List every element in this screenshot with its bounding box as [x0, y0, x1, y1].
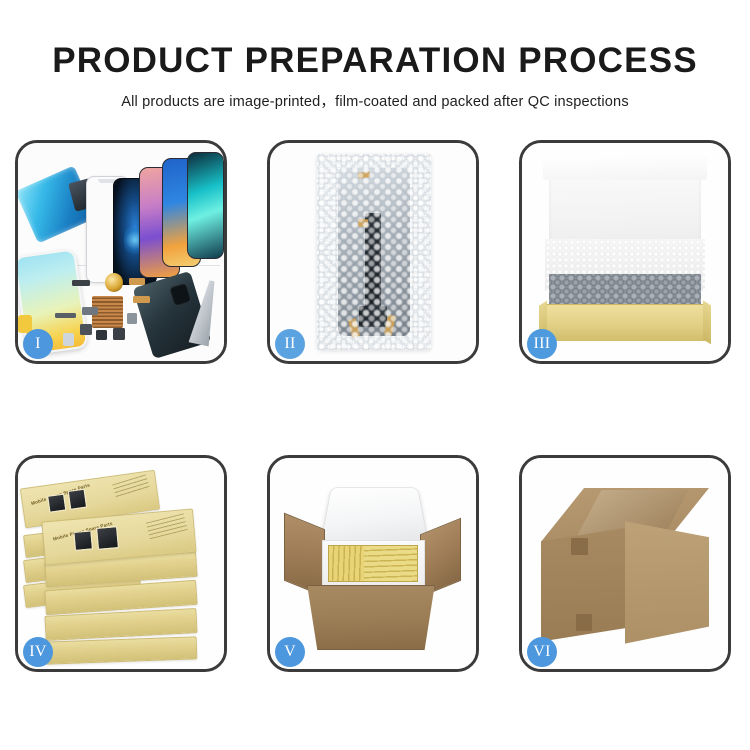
- process-step-4: Mobile Phone Spare Parts Mobile Phone Sp…: [15, 455, 227, 672]
- yellow-boxes-inside: [328, 545, 419, 583]
- small-part: [82, 307, 98, 316]
- step-badge-4: IV: [23, 637, 53, 667]
- step-5-image: [270, 458, 476, 669]
- step-4-image: Mobile Phone Spare Parts Mobile Phone Sp…: [18, 458, 224, 669]
- box-window-thumbnail: [73, 530, 93, 551]
- small-part: [96, 330, 106, 340]
- step-badge-3: III: [527, 329, 557, 359]
- box-window-thumbnail: [48, 494, 66, 513]
- header: PRODUCT PREPARATION PROCESS All products…: [0, 0, 750, 111]
- page-subtitle: All products are image-printed，film-coat…: [0, 90, 750, 111]
- process-step-3: III: [519, 140, 731, 364]
- gold-speaker-part: [105, 273, 124, 293]
- process-step-2: II: [267, 140, 479, 364]
- box-spec-lines: [145, 513, 187, 539]
- page-title: PRODUCT PREPARATION PROCESS: [0, 42, 750, 81]
- blue-adhesive-film: [18, 165, 97, 243]
- box-window-thumbnail: [67, 489, 87, 510]
- sim-tray-part: [63, 333, 73, 346]
- screen-flex-cable: [365, 213, 381, 327]
- step-badge-6: VI: [527, 637, 557, 667]
- small-part: [55, 313, 76, 318]
- carton-tape-patch: [571, 538, 587, 555]
- process-step-1: I: [15, 140, 227, 364]
- process-step-grid: I II: [15, 140, 731, 672]
- process-step-6: VI: [519, 455, 731, 672]
- carton-front-wall: [307, 585, 435, 650]
- stacked-box-slab: [44, 637, 197, 666]
- step-badge-1: I: [23, 329, 53, 359]
- flex-cable-part: [129, 278, 144, 285]
- step-3-image: [522, 143, 728, 361]
- carton-tape-patch: [576, 614, 592, 631]
- small-part: [113, 328, 125, 340]
- tape-strip: [358, 171, 371, 179]
- step-2-image: [270, 143, 476, 361]
- process-step-5: V: [267, 455, 479, 672]
- step-1-image: [18, 143, 224, 361]
- carton-right-face: [625, 521, 709, 643]
- kraft-inner-box: [543, 304, 708, 341]
- styrofoam-lid-open: [319, 487, 428, 545]
- box-stack: Mobile Phone Spare Parts Mobile Phone Sp…: [18, 458, 224, 669]
- small-part: [72, 280, 91, 286]
- teal-swirl-phone: [187, 152, 224, 259]
- bubble-wrapped-units: [549, 274, 701, 307]
- bubble-wrap-bag: [317, 154, 430, 350]
- step-badge-2: II: [275, 329, 305, 359]
- product-preparation-infographic: PRODUCT PREPARATION PROCESS All products…: [0, 0, 750, 750]
- carton-flap-left: [284, 513, 325, 597]
- step-6-image: [522, 458, 728, 669]
- box-window-thumbnail: [95, 526, 118, 550]
- tape-strip: [358, 218, 369, 227]
- box-spec-lines: [113, 475, 151, 500]
- flex-cable-part: [133, 296, 149, 303]
- step-badge-5: V: [275, 637, 305, 667]
- small-part: [80, 324, 92, 335]
- small-part: [127, 313, 137, 324]
